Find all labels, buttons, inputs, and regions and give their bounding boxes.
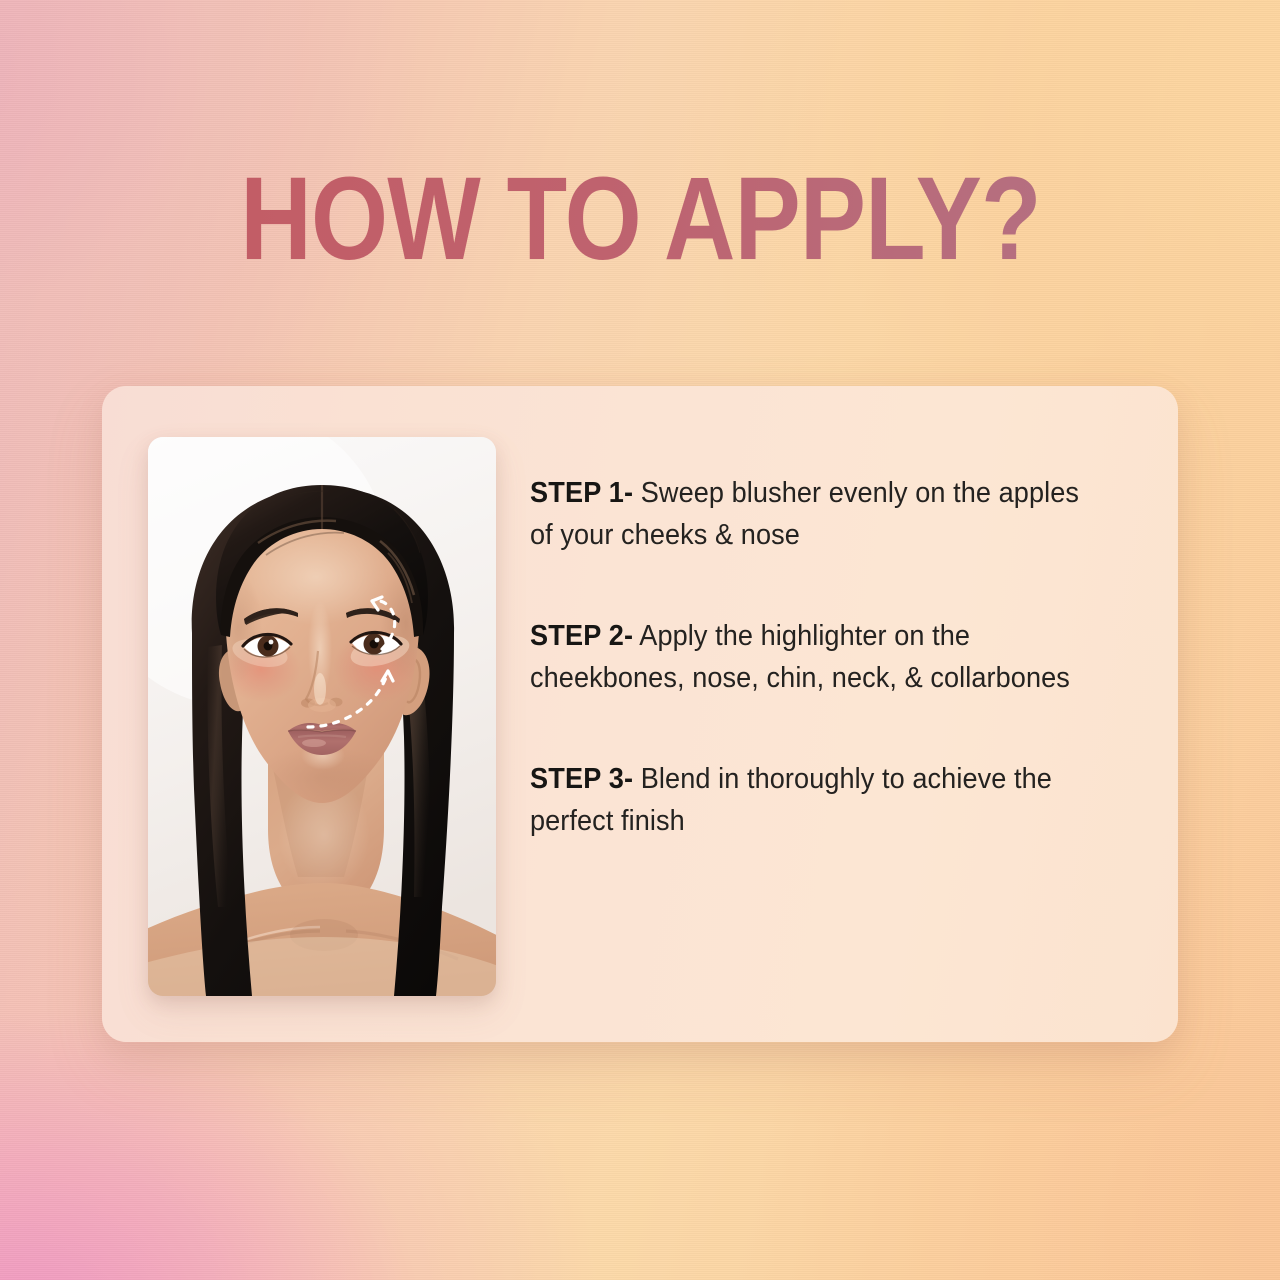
step-3-label: STEP 3- [530,763,633,795]
model-photo-illustration [148,437,496,996]
model-photo-frame [148,437,496,996]
steps-list: STEP 1- Sweep blusher evenly on the appl… [530,472,1126,843]
how-to-apply-card: STEP 1- Sweep blusher evenly on the appl… [102,386,1178,1042]
step-item-1: STEP 1- Sweep blusher evenly on the appl… [530,472,1126,557]
step-item-3: STEP 3- Blend in thoroughly to achieve t… [530,758,1126,843]
step-3-text: STEP 3- Blend in thoroughly to achieve t… [530,758,1096,843]
page-title-container: HOW TO APPLY? [0,160,1280,278]
page-title: HOW TO APPLY? [240,160,1040,278]
step-1-label: STEP 1- [530,477,633,509]
step-item-2: STEP 2- Apply the highlighter on the che… [530,615,1126,700]
step-1-text: STEP 1- Sweep blusher evenly on the appl… [530,472,1096,557]
poster-canvas: HOW TO APPLY? [0,0,1280,1280]
model-photo [148,437,496,996]
step-2-text: STEP 2- Apply the highlighter on the che… [530,615,1096,700]
step-2-label: STEP 2- [530,620,633,652]
